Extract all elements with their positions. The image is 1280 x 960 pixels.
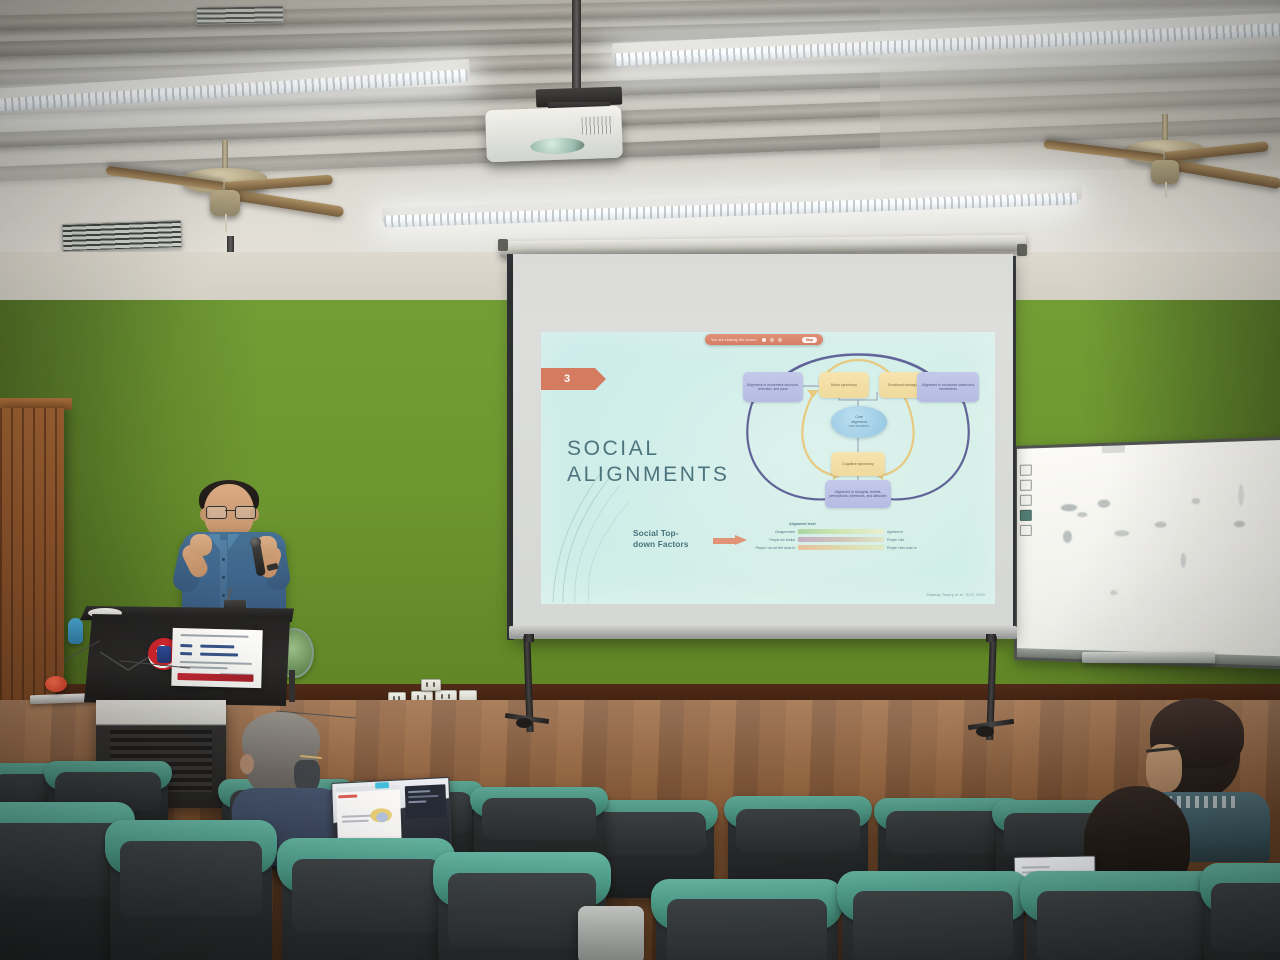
ceiling-fan-right xyxy=(1050,132,1280,212)
stop-share-button[interactable]: Stop xyxy=(802,337,817,343)
wall-outlet-upper xyxy=(421,679,441,691)
projection-screen-assembly: You are sharing the screen. Stop 3 SOCIA… xyxy=(505,238,1021,638)
whiteboard-tool-icon[interactable] xyxy=(1020,525,1032,536)
slide-title: SOCIAL ALIGNMENTS xyxy=(567,436,747,489)
legend-left-label: Disagreement xyxy=(737,530,795,534)
ceiling-fan-left xyxy=(105,162,345,242)
lectern-notice-sign xyxy=(171,628,262,688)
red-microphone-windscreen[interactable] xyxy=(45,676,67,692)
screen-bottom-bar xyxy=(509,626,1017,639)
slide-title-line2: ALIGNMENTS xyxy=(567,462,747,488)
legend-right-label: Agreement xyxy=(887,530,903,534)
node-label: Cognitive synchrony xyxy=(842,462,874,466)
node-label: Alignment in thoughts, beliefs, percepti… xyxy=(827,490,889,499)
whiteboard-tool-strip[interactable] xyxy=(1020,464,1033,536)
seat[interactable] xyxy=(842,880,1024,960)
slide-number-badge: 3 xyxy=(541,368,595,390)
share-bar-text: You are sharing the screen. xyxy=(711,338,758,342)
presenter-glasses xyxy=(206,506,254,517)
presenter-left-hand xyxy=(190,534,212,556)
diagram-node-align-thoughts: Alignment in thoughts, beliefs, percepti… xyxy=(825,480,891,508)
node-label: Alignment in movement structure, directi… xyxy=(745,383,801,392)
diagram-node-cognitive-synchrony: Cognitive synchrony xyxy=(831,452,885,476)
seat-armrest[interactable] xyxy=(578,906,644,960)
seat[interactable] xyxy=(656,888,838,960)
node-label: Motor synchrony xyxy=(831,383,857,387)
share-bar-icon[interactable] xyxy=(770,338,774,342)
seat[interactable] xyxy=(282,848,450,960)
legend-left-label: People are similar xyxy=(737,538,795,542)
node-label: Alignment in emotional states and moveme… xyxy=(919,383,977,392)
whiteboard-tool-icon-active[interactable] xyxy=(1020,510,1032,521)
callout-line-1: Social Top- xyxy=(633,528,711,539)
legend-title: Alignment level xyxy=(789,522,816,526)
blue-microphone[interactable] xyxy=(68,618,83,644)
whiteboard-tool-icon[interactable] xyxy=(1020,464,1032,475)
screen-share-bar[interactable]: You are sharing the screen. Stop xyxy=(705,334,823,345)
node-label: Emotional contagion xyxy=(888,383,920,387)
diagram-core-node: Core alignment mechanisms xyxy=(831,406,887,438)
slide-citation: Shamay-Tsoory et al. TiCS, 2019 xyxy=(926,593,985,597)
attendee-ear xyxy=(240,754,254,774)
seat[interactable] xyxy=(110,830,272,960)
presentation-slide: You are sharing the screen. Stop 3 SOCIA… xyxy=(541,332,995,604)
whiteboard-marker-tray xyxy=(1082,652,1215,663)
alignment-diagram: Alignment in movement structure, directi… xyxy=(727,348,989,538)
whiteboard-tool-icon[interactable] xyxy=(1020,495,1032,506)
sign-red-band xyxy=(177,673,253,682)
projection-screen-surface: You are sharing the screen. Stop 3 SOCIA… xyxy=(513,254,1013,638)
share-bar-icon[interactable] xyxy=(778,338,782,342)
callout-line-2: down Factors xyxy=(633,539,711,550)
slide-title-line1: SOCIAL xyxy=(567,436,747,462)
social-topdown-callout: Social Top- down Factors xyxy=(633,528,711,551)
whiteboard-badge xyxy=(1102,444,1125,453)
fan-blade xyxy=(1164,158,1280,189)
share-bar-icon[interactable] xyxy=(762,338,766,342)
diagram-node-align-emotional: Alignment in emotional states and moveme… xyxy=(917,372,979,402)
legend-left-label: People I do not feel close to xyxy=(737,546,795,550)
lecture-hall-scene: EPSON xyxy=(0,0,1280,960)
interactive-whiteboard[interactable] xyxy=(1014,436,1280,670)
air-vent-grille-2 xyxy=(196,5,284,25)
legend-right-label: People I like xyxy=(887,538,904,542)
legend-right-label: People I feel close to xyxy=(887,546,917,550)
diagram-node-align-movement: Alignment in movement structure, directi… xyxy=(743,372,803,402)
core-line-3: mechanisms xyxy=(849,424,869,429)
fan-blade xyxy=(224,188,344,218)
whiteboard-tool-icon[interactable] xyxy=(1020,480,1032,491)
seat[interactable] xyxy=(1204,872,1280,960)
diagram-node-motor-synchrony: Motor synchrony xyxy=(819,372,869,398)
alignment-level-legend: Alignment level Disagreement Agreement P… xyxy=(737,522,923,556)
seat[interactable] xyxy=(1026,880,1216,960)
